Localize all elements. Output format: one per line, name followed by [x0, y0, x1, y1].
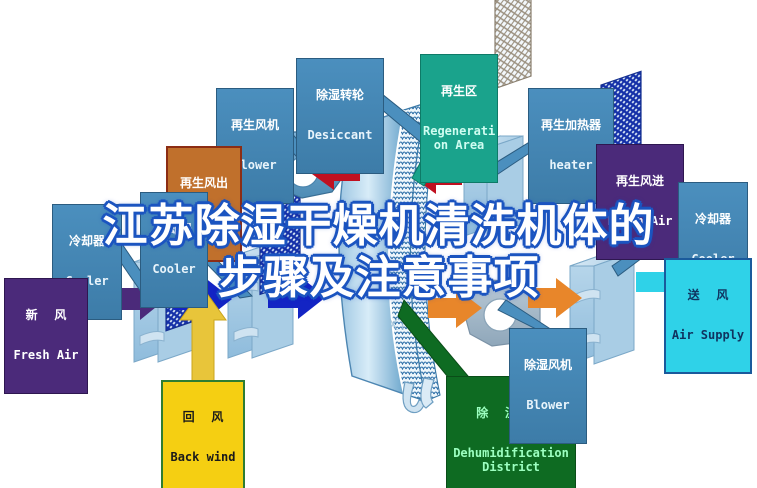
- label-en: Fresh Air: [7, 349, 85, 362]
- label-desiccant-rotor[interactable]: 除湿转轮 Desiccant: [296, 58, 384, 174]
- label-en: Regenerati on Area: [423, 125, 495, 152]
- label-cn: 送 风: [668, 289, 748, 302]
- label-en: Air Supply: [668, 329, 748, 342]
- label-cn: 再生区: [423, 85, 495, 98]
- label-cn: 再生加热器: [531, 119, 611, 132]
- label-cn: 再生风进: [599, 175, 681, 188]
- label-air-supply[interactable]: 送 风 Air Supply: [664, 258, 752, 374]
- diagram-canvas: XT: [0, 0, 757, 488]
- label-en: Cooler: [143, 263, 205, 276]
- label-cn: 再生风出: [170, 177, 238, 190]
- label-regeneration-fresh-air[interactable]: 再生风进 Fresh Air: [596, 144, 684, 260]
- label-cn: 冷却器: [143, 223, 205, 236]
- label-en: Desiccant: [299, 129, 381, 142]
- label-cn: 冷却器: [681, 213, 745, 226]
- label-cn: 新 风: [7, 309, 85, 322]
- label-cn: 回 风: [165, 411, 241, 424]
- label-cn: 再生风机: [219, 119, 291, 132]
- label-cn: 冷却器: [55, 235, 119, 248]
- label-en: Blower: [512, 399, 584, 412]
- label-cn: 除湿风机: [512, 359, 584, 372]
- label-fresh-air-inlet[interactable]: 新 风 Fresh Air: [4, 278, 88, 394]
- label-en: Dehumidification District: [449, 447, 573, 474]
- label-back-wind[interactable]: 回 风 Back wind: [161, 380, 245, 488]
- label-cn: 除湿转轮: [299, 89, 381, 102]
- label-regeneration-area[interactable]: 再生区 Regenerati on Area: [420, 54, 498, 183]
- label-cooler-left-2[interactable]: 冷却器 Cooler: [140, 192, 208, 308]
- label-en: Fresh Air: [599, 215, 681, 228]
- label-dehumidification-blower[interactable]: 除湿风机 Blower: [509, 328, 587, 444]
- label-en: Back wind: [165, 451, 241, 464]
